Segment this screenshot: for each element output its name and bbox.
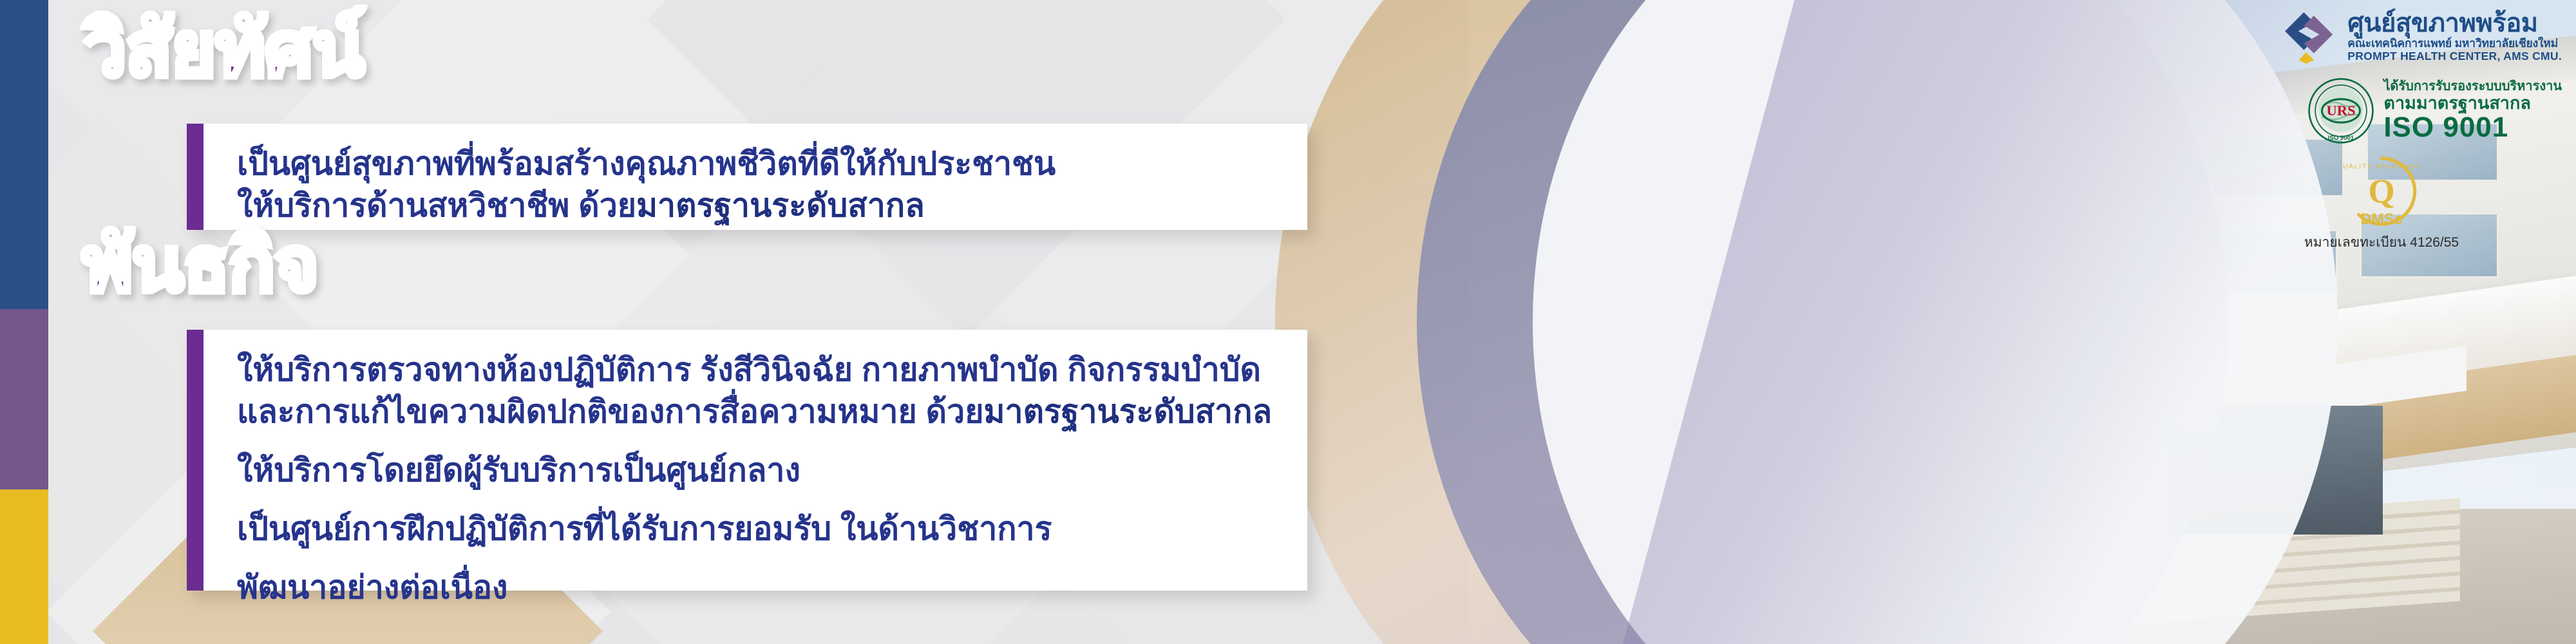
dmsc-quality-assurance: Q QUALITY ASSURANCE DMSc หมายเลขทะเบียน … — [2201, 153, 2562, 253]
logo-subtitle-en: PROMPT HEALTH CENTER, AMS CMU. — [2347, 50, 2562, 62]
prompt-health-diamond-icon — [2282, 9, 2337, 64]
vision-line-2: ให้บริการด้านสหวิชาชีพ ด้วยมาตรฐานระดับส… — [237, 185, 1269, 227]
vision-emphasis: มาตรฐานระดับสากล — [636, 187, 925, 223]
mission-item-1: ให้บริการตรวจทางห้องปฏิบัติการ รังสีวินิ… — [237, 349, 1269, 391]
svg-text:Q: Q — [2368, 173, 2394, 211]
vision-line-1: เป็นศูนย์สุขภาพที่พร้อมสร้างคุณภาพชีวิตท… — [237, 143, 1269, 185]
vision-accent-bar — [187, 124, 204, 230]
iso-line-2: ตามมาตรฐานสากล — [2383, 93, 2562, 113]
brand-and-certifications: ศูนย์สุขภาพพร้อม คณะเทคนิคการแพทย์ มหาวิ… — [2201, 9, 2562, 253]
dmsc-registration-number: หมายเลขทะเบียน 4126/55 — [2304, 232, 2459, 253]
vision-mission-banner: วิสัยทัศน์ เป็นศูนย์สุขภาพที่พร้อมสร้างค… — [0, 0, 2576, 644]
mission-item-5: พัฒนาอย่างต่อเนื่อง — [237, 567, 1269, 609]
mission-accent-bar — [187, 330, 204, 591]
logo-subtitle-th: คณะเทคนิคการแพทย์ มหาวิทยาลัยเชียงใหม่ — [2347, 37, 2562, 50]
svg-text:DMSc: DMSc — [2360, 211, 2403, 228]
svg-text:ISO 9001: ISO 9001 — [2328, 135, 2354, 142]
svg-text:QUALITY ASSURANCE: QUALITY ASSURANCE — [2344, 164, 2420, 171]
mission-item-4: เป็นศูนย์การฝึกปฏิบัติการที่ได้รับการยอม… — [237, 508, 1269, 550]
mission-card: ให้บริการตรวจทางห้องปฏิบัติการ รังสีวินิ… — [187, 330, 1307, 591]
urs-iso-9001-seal-icon: URS ISO 9001 — [2307, 77, 2374, 144]
iso-line-3: ISO 9001 — [2383, 113, 2562, 142]
mission-item-2: และการแก้ไขความผิดปกติของการสื่อความหมาย… — [237, 391, 1269, 433]
vision-card: เป็นศูนย์สุขภาพที่พร้อมสร้างคุณภาพชีวิตท… — [187, 124, 1307, 230]
vision-heading: วิสัยทัศน์ — [84, 12, 364, 88]
mission-item-3: ให้บริการโดยยึดผู้รับบริการเป็นศูนย์กลาง — [237, 450, 1269, 491]
logo-title-th: ศูนย์สุขภาพพร้อม — [2347, 10, 2562, 37]
mission-heading: พันธกิจ — [82, 227, 318, 303]
dmsc-q-seal-icon: Q QUALITY ASSURANCE DMSc — [2344, 153, 2420, 229]
prompt-health-center-logo: ศูนย์สุขภาพพร้อม คณะเทคนิคการแพทย์ มหาวิ… — [2201, 9, 2562, 64]
iso-line-1: ได้รับการรับรองระบบบริหารงาน — [2383, 79, 2562, 93]
content-column: วิสัยทัศน์ เป็นศูนย์สุขภาพที่พร้อมสร้างค… — [0, 0, 1417, 644]
iso-9001-certification: URS ISO 9001 ได้รับการรับรองระบบบริหารงา… — [2201, 77, 2562, 144]
svg-text:URS: URS — [2327, 102, 2356, 118]
mission-emphasis: มาตรฐานระดับสากล — [984, 393, 1273, 430]
